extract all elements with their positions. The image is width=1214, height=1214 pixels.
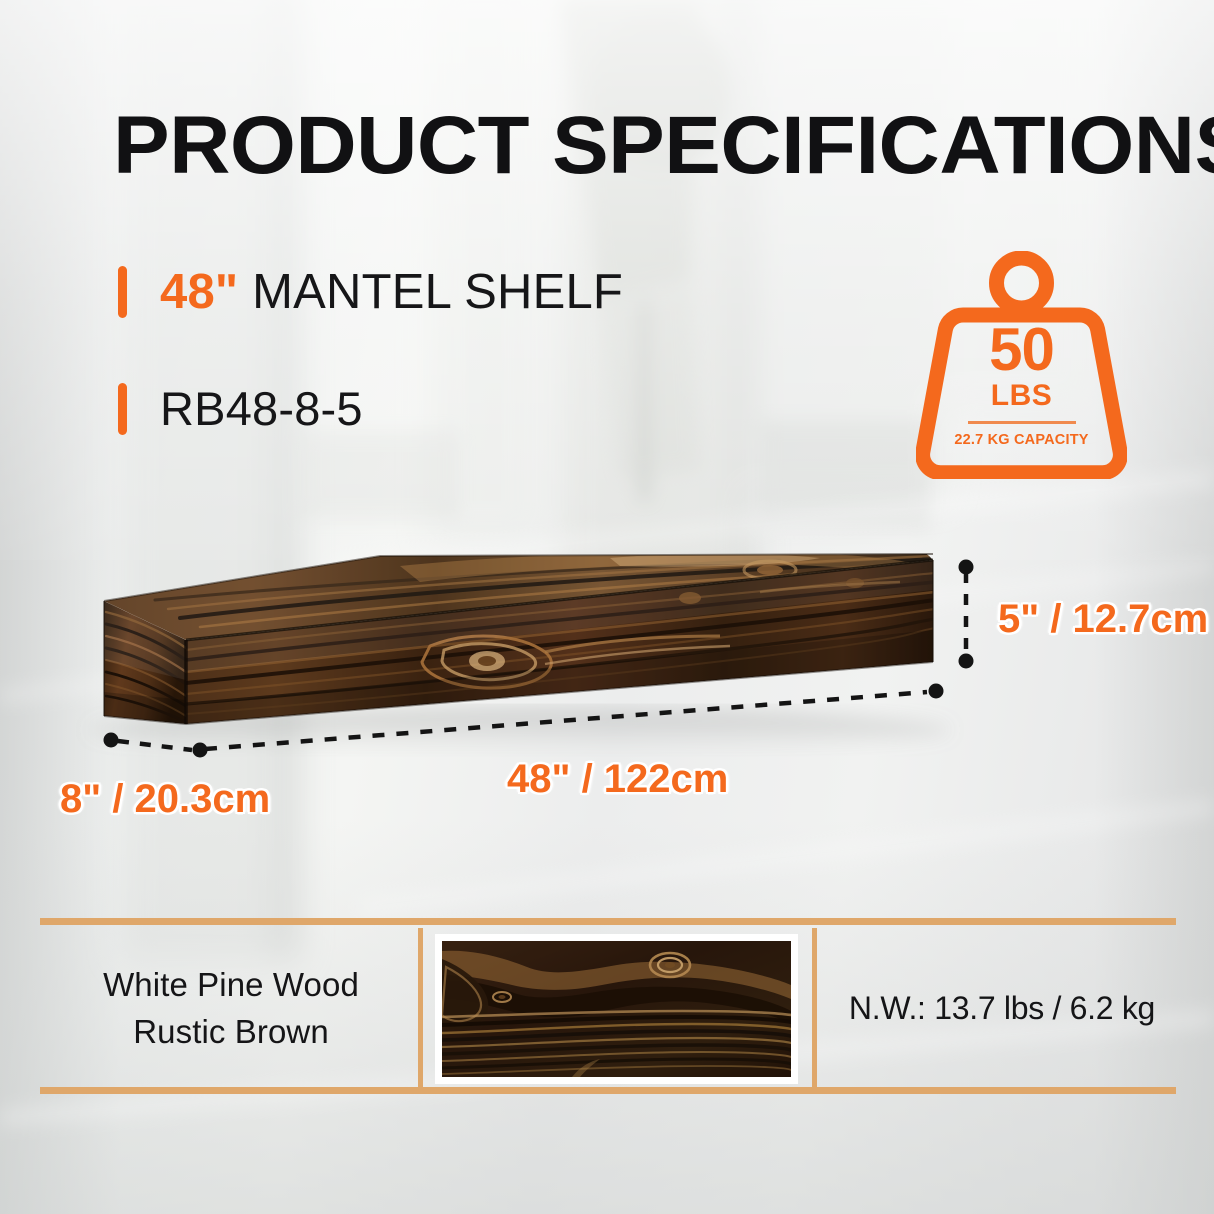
info-bar-divider-left <box>418 928 423 1087</box>
info-bar-bottom-rule <box>40 1087 1176 1094</box>
infographic-canvas: PRODUCT SPECIFICATIONS 48" MANTEL SHELF … <box>0 0 1214 1214</box>
material-line-1: White Pine Wood <box>103 961 359 1008</box>
spec-rest-sku: RB48-8-5 <box>160 382 363 435</box>
capacity-metric: 22.7 KG CAPACITY <box>954 431 1088 449</box>
bullet-bar-icon <box>118 266 127 318</box>
wood-grain-swatch <box>435 934 798 1084</box>
spec-label-size: 48" MANTEL SHELF <box>160 266 623 318</box>
spec-label-sku: RB48-8-5 <box>160 383 363 435</box>
net-weight-label: N.W.: 13.7 lbs / 6.2 kg <box>849 988 1155 1028</box>
bullet-bar-icon <box>118 383 127 435</box>
spec-row-model-size: 48" MANTEL SHELF <box>118 266 623 318</box>
spec-highlight-size: 48" <box>160 265 238 319</box>
capacity-unit: LBS <box>991 379 1053 413</box>
badge-divider <box>968 421 1076 424</box>
material-line-2: Rustic Brown <box>133 1008 329 1055</box>
material-cell: White Pine Wood Rustic Brown <box>48 928 414 1087</box>
spec-row-sku: RB48-8-5 <box>118 383 363 435</box>
spec-rest-size: MANTEL SHELF <box>238 265 623 319</box>
dimension-label-height: 5" / 12.7cm <box>998 597 1208 642</box>
capacity-value: 50 <box>989 323 1054 377</box>
dimension-label-length: 48" / 122cm <box>507 757 728 802</box>
capacity-badge: 50 LBS 22.7 KG CAPACITY <box>916 251 1127 479</box>
info-bar-divider-right <box>812 928 817 1087</box>
net-weight-cell: N.W.: 13.7 lbs / 6.2 kg <box>828 928 1176 1087</box>
page-title: PRODUCT SPECIFICATIONS <box>113 104 1179 188</box>
dimension-label-depth: 8" / 20.3cm <box>60 777 270 822</box>
info-bar-top-rule <box>40 918 1176 925</box>
